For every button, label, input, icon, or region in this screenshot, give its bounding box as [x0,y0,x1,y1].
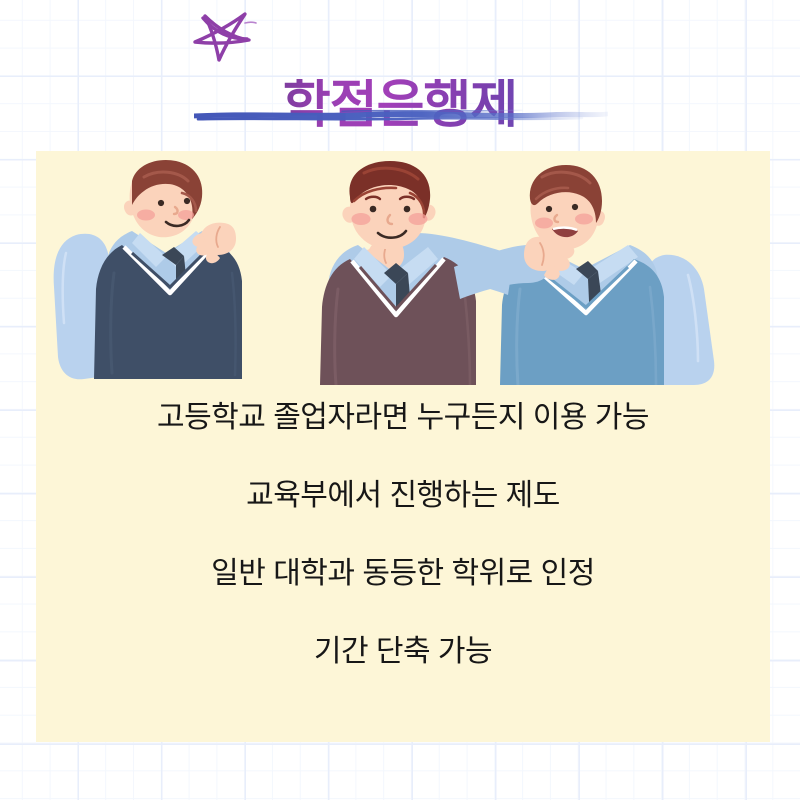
student-left [54,160,242,379]
poster-header: 학점은행제 [0,0,800,151]
info-line-4: 기간 단축 가능 [36,637,770,715]
bullet-lines: 고등학교 졸업자라면 누구든지 이용 가능 교육부에서 진행하는 제도 일반 대… [36,403,770,715]
info-line-1: 고등학교 졸업자라면 누구든지 이용 가능 [36,403,770,481]
poster-canvas: 학점은행제 [0,0,800,800]
three-students-illustration [36,157,770,385]
title-container: 학점은행제 [0,44,800,166]
content-card: 고등학교 졸업자라면 누구든지 이용 가능 교육부에서 진행하는 제도 일반 대… [36,151,770,742]
info-line-3: 일반 대학과 동등한 학위로 인정 [36,559,770,637]
info-line-2: 교육부에서 진행하는 제도 [36,481,770,559]
brush-underline-icon [192,108,610,126]
info-line-4-text: 기간 단축 가능 [314,637,492,667]
info-line-1-text: 고등학교 졸업자라면 누구든지 이용 가능 [157,403,649,433]
info-line-3-text: 일반 대학과 동등한 학위로 인정 [211,559,595,589]
info-line-2-text: 교육부에서 진행하는 제도 [246,481,560,511]
